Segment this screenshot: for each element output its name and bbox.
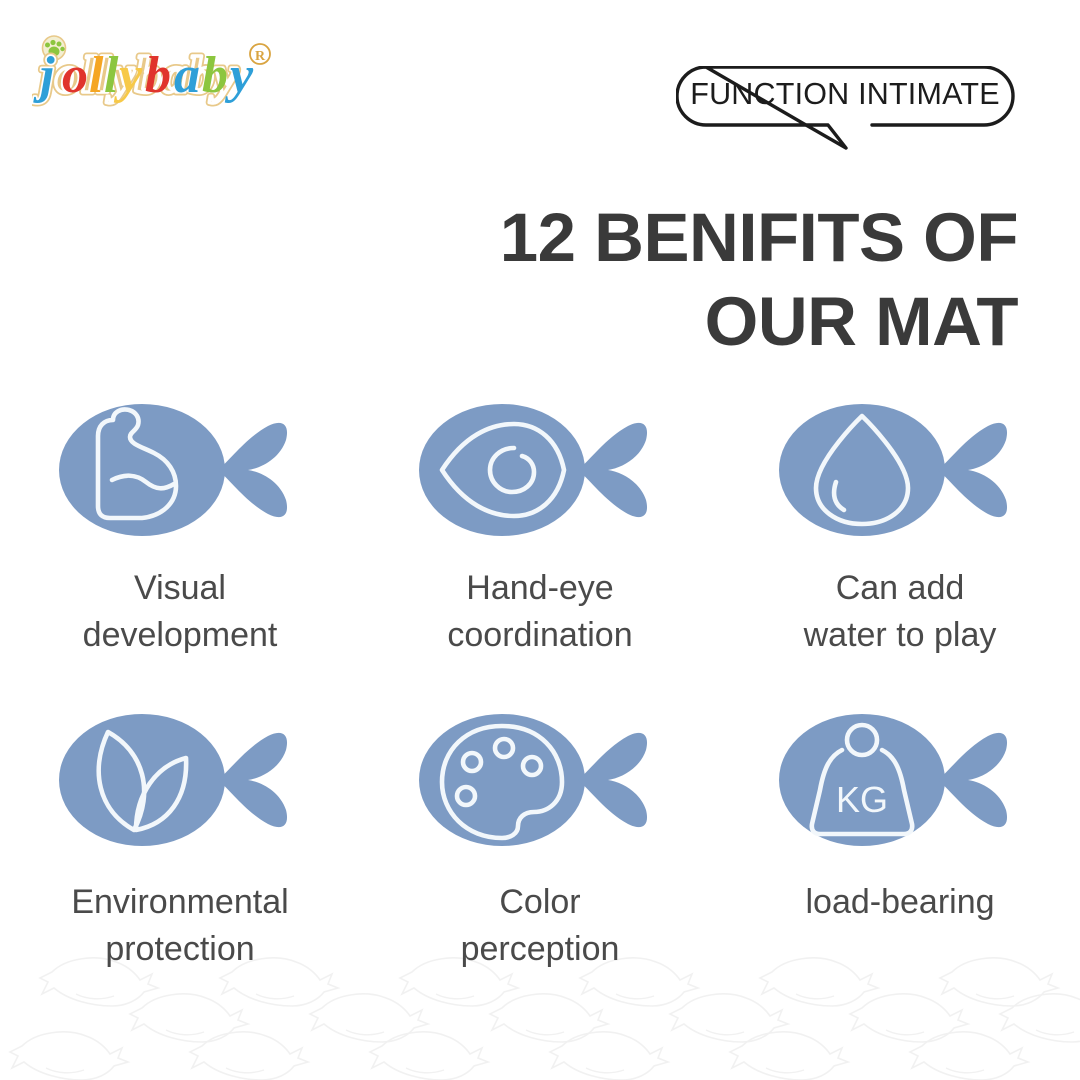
page-title: 12 BENIFITS OF OUR MAT bbox=[398, 196, 1018, 364]
weight-kg-label: KG bbox=[836, 779, 888, 820]
fish-icon-container bbox=[50, 398, 310, 543]
benefit-label: Color perception bbox=[461, 879, 620, 973]
badge-label: FUNCTION INTIMATE bbox=[676, 66, 1014, 122]
fish-icon-container bbox=[410, 398, 670, 543]
logo-letter-l1: l bbox=[89, 47, 104, 104]
fish-shape bbox=[770, 398, 1030, 543]
logo-letter-b1: b bbox=[145, 47, 172, 104]
benefit-row-2: Environmental protection bbox=[0, 708, 1080, 1008]
logo-letter-j: j bbox=[33, 47, 55, 104]
benefit-row-1: Visual development Hand-eye coordination bbox=[0, 398, 1080, 708]
function-intimate-badge: FUNCTION INTIMATE bbox=[676, 66, 1020, 158]
benefit-label: Hand-eye coordination bbox=[447, 565, 632, 659]
watermark-row-3 bbox=[10, 1032, 1028, 1080]
benefits-grid: Visual development Hand-eye coordination bbox=[0, 398, 1080, 1008]
promo-poster: jollybaby jollybaby j o l l y b a b y R … bbox=[0, 0, 1080, 1080]
fish-shape bbox=[410, 398, 670, 543]
fish-shape bbox=[50, 398, 310, 543]
fish-shape: KG bbox=[770, 708, 1030, 853]
bubble-tail bbox=[806, 125, 846, 148]
logo-letter-b2: b bbox=[202, 47, 229, 104]
benefit-label: load-bearing bbox=[805, 879, 994, 926]
benefit-can-add-water: Can add water to play bbox=[720, 398, 1080, 708]
logo-letter-o: o bbox=[62, 47, 89, 104]
logo-letter-l2: l bbox=[104, 47, 119, 104]
fish-shape bbox=[50, 708, 310, 853]
fish-icon-container bbox=[770, 398, 1030, 543]
logo-letter-a: a bbox=[174, 47, 201, 104]
fish-icon-container: KG bbox=[770, 708, 1030, 853]
fish-icon-container bbox=[50, 708, 310, 853]
svg-text:R: R bbox=[255, 49, 266, 64]
jollybaby-logo: jollybaby jollybaby j o l l y b a b y R bbox=[32, 30, 282, 110]
benefit-visual-development: Visual development bbox=[0, 398, 360, 708]
benefit-hand-eye-coordination: Hand-eye coordination bbox=[360, 398, 720, 708]
headline-line-2: OUR MAT bbox=[398, 280, 1018, 364]
benefit-label: Can add water to play bbox=[804, 565, 997, 659]
headline-line-1: 12 BENIFITS OF bbox=[398, 196, 1018, 280]
fish-icon-container bbox=[410, 708, 670, 853]
benefit-label: Visual development bbox=[83, 565, 278, 659]
fish-shape bbox=[410, 708, 670, 853]
benefit-environmental-protection: Environmental protection bbox=[0, 708, 360, 1008]
benefit-label: Environmental protection bbox=[71, 879, 288, 973]
benefit-color-perception: Color perception bbox=[360, 708, 720, 1008]
benefit-load-bearing: KG load-bearing bbox=[720, 708, 1080, 1008]
